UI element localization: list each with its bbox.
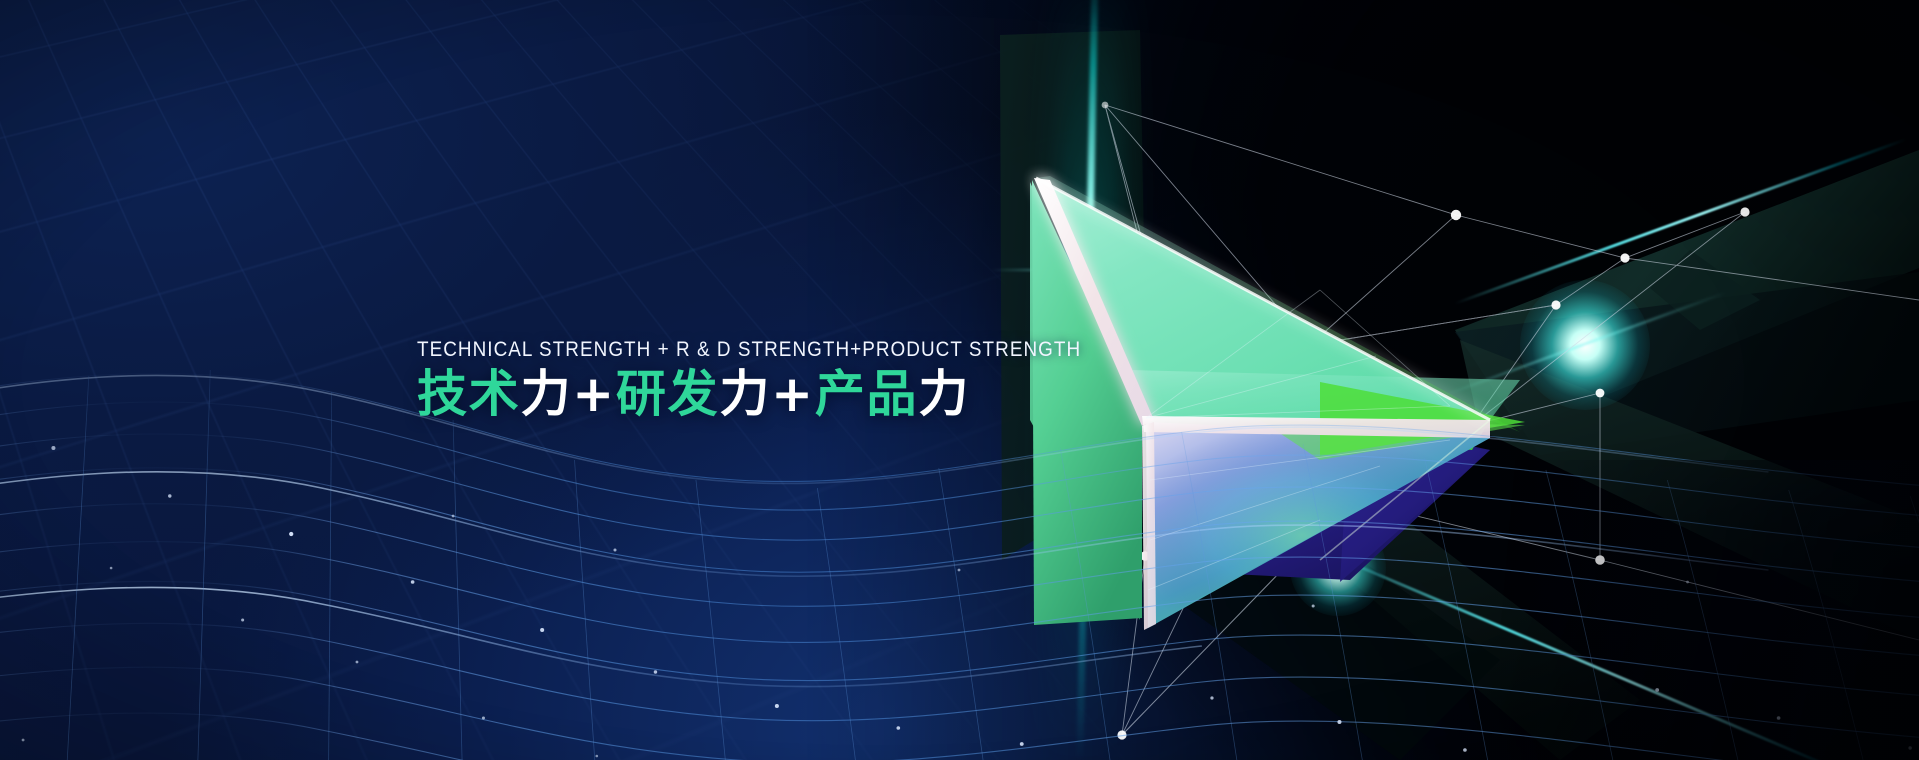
title-segment-2: + [572, 365, 616, 423]
page-title: 技术力+研发力+产品力 [417, 366, 1137, 422]
title-segment-4: 力 [719, 365, 771, 423]
headline-eyebrow: TECHNICAL STRENGTH + R & D STRENGTH+PROD… [417, 338, 1065, 362]
headline-block: TECHNICAL STRENGTH + R & D STRENGTH+PROD… [417, 338, 1137, 422]
title-segment-1: 力 [521, 365, 573, 423]
hero-banner: TECHNICAL STRENGTH + R & D STRENGTH+PROD… [0, 0, 1919, 760]
title-segment-6: 产品 [815, 365, 919, 423]
title-segment-7: 力 [918, 365, 970, 423]
title-segment-3: 研发 [616, 365, 720, 423]
title-segment-0: 技术 [417, 365, 521, 423]
title-segment-5: + [771, 365, 815, 423]
